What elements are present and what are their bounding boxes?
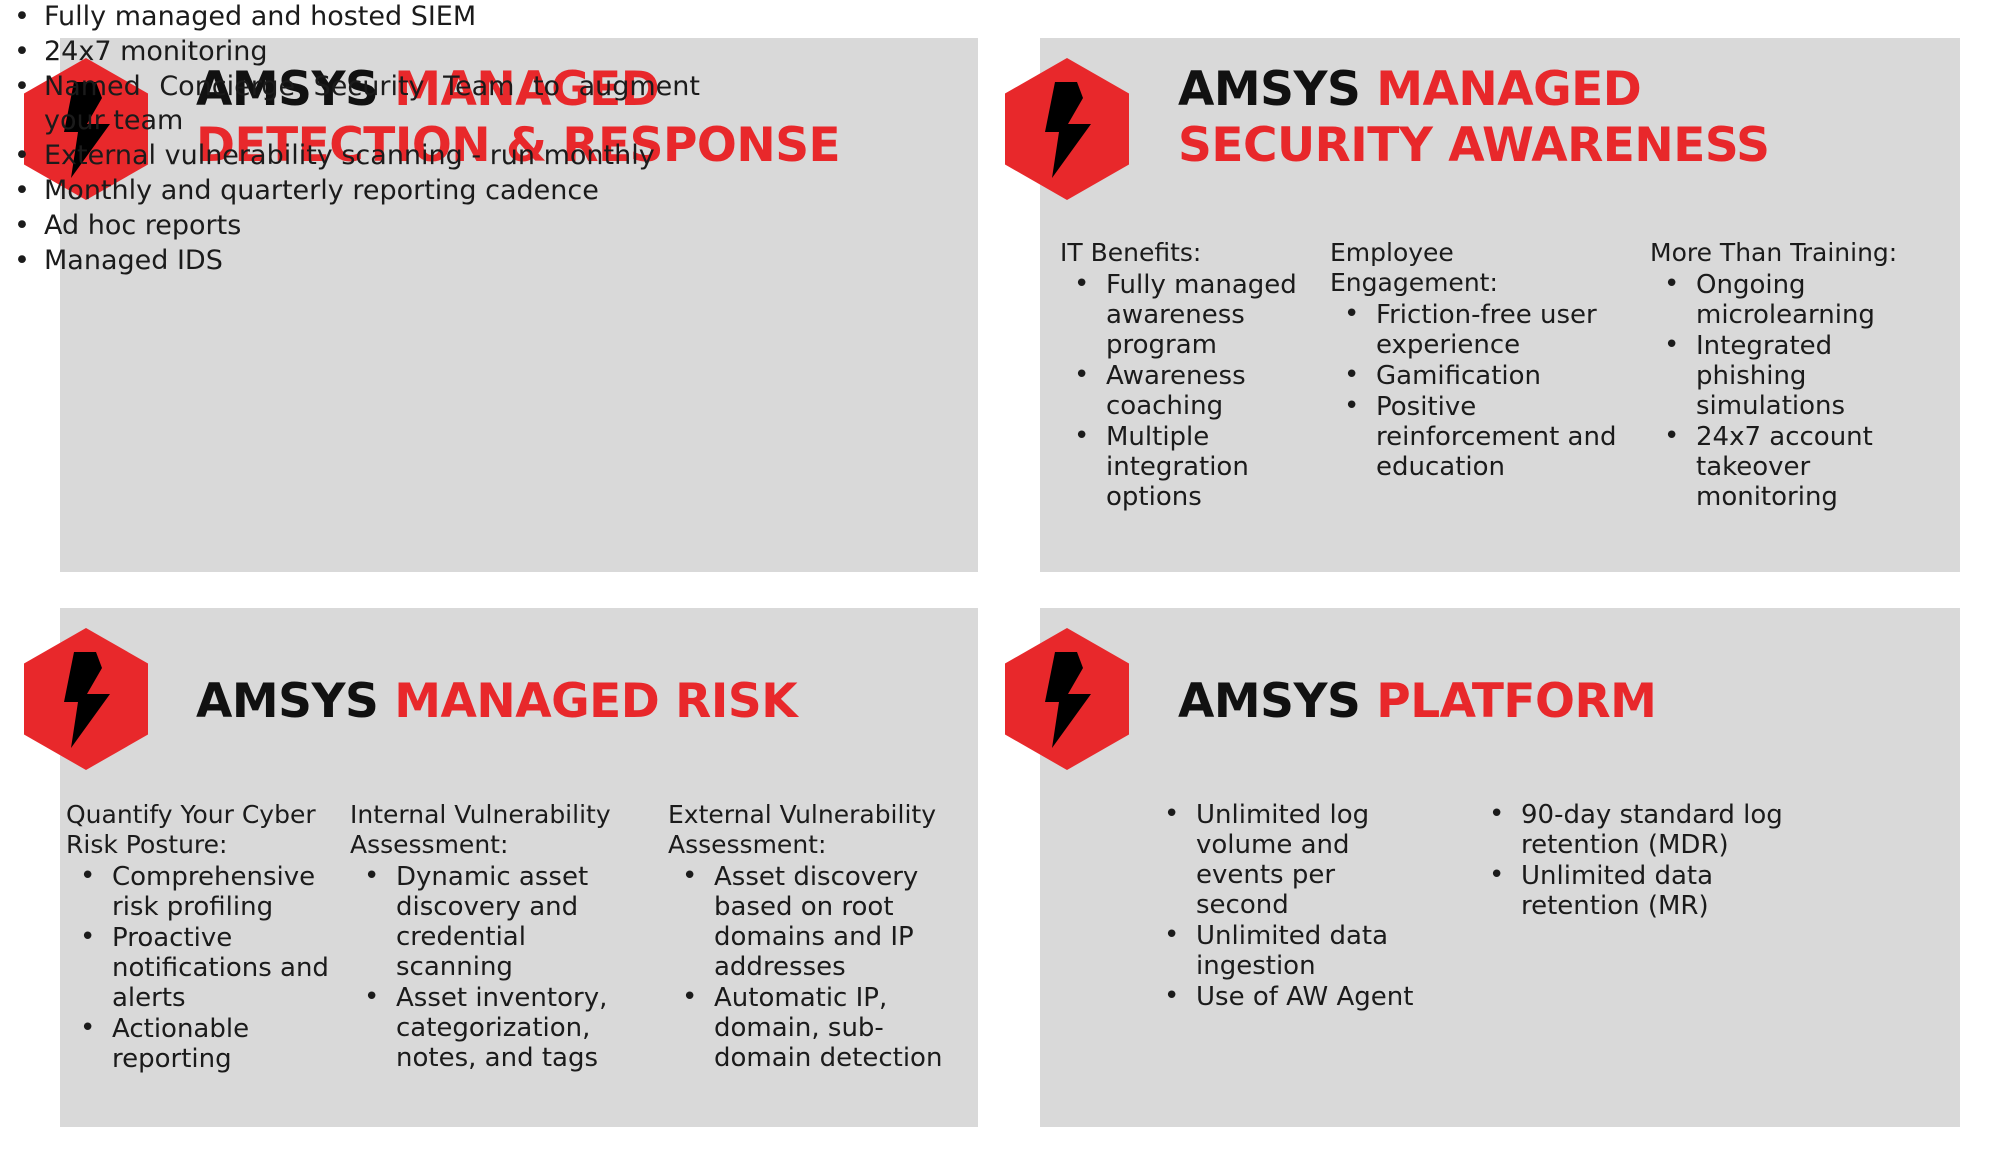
card-title-accent: MANAGED (1376, 62, 1641, 117)
lightning-bolt-icon (1005, 58, 1129, 200)
column-title: External Vulnerability Assessment: (668, 800, 958, 860)
list-item: Use of AW Agent (1150, 982, 1430, 1012)
list-item: 24x7 account takeover monitoring (1650, 422, 1930, 512)
list-item: External vulnerability scanning - run mo… (0, 139, 700, 173)
lightning-bolt-icon (24, 628, 148, 770)
column-title: Quantify Your Cyber Risk Posture: (66, 800, 331, 860)
card-title-platform: AMSYS PLATFORM (1178, 674, 1656, 730)
column-title: Internal Vulnerability Assessment: (350, 800, 640, 860)
mr-column-external-vulnerability: External Vulnerability Assessment: Asset… (668, 800, 958, 1074)
list-item: Automatic IP, domain, sub-domain detecti… (668, 983, 958, 1073)
column-bullet-list: Comprehensive risk profiling Proactive n… (66, 862, 331, 1074)
list-item: Unlimited data ingestion (1150, 921, 1430, 981)
card-title-msa: AMSYS MANAGED SECURITY AWARENESS (1178, 62, 1769, 174)
column-title: IT Benefits: (1060, 238, 1305, 268)
card-title-prefix: AMSYS (196, 674, 394, 729)
list-item: Multiple integration options (1060, 422, 1305, 512)
card-title-accent: MANAGED RISK (394, 674, 797, 729)
list-item: Ongoing microlearning (1650, 270, 1930, 330)
card-title-prefix: AMSYS (1178, 674, 1376, 729)
column-bullet-list: Friction-free user experience Gamificati… (1330, 300, 1620, 482)
amsys-logo-mr (24, 628, 148, 770)
card-title-line2: SECURITY AWARENESS (1178, 118, 1769, 174)
list-item: Awareness coaching (1060, 361, 1305, 421)
list-item: Actionable reporting (66, 1014, 331, 1074)
list-item: 24x7 monitoring (0, 35, 700, 69)
list-item: Asset discovery based on root domains an… (668, 862, 958, 982)
msa-column-more-than-training: More Than Training: Ongoing microlearnin… (1650, 238, 1930, 513)
column-bullet-list: Ongoing microlearning Integrated phishin… (1650, 270, 1930, 512)
platform-column-1: Unlimited log volume and events per seco… (1150, 800, 1430, 1013)
lightning-bolt-icon (1005, 628, 1129, 770)
card-title-prefix: AMSYS (1178, 62, 1376, 117)
msa-column-it-benefits: IT Benefits: Fully managed awareness pro… (1060, 238, 1305, 513)
amsys-logo-msa (1005, 58, 1129, 200)
list-item: Managed IDS (0, 244, 700, 278)
list-item: Comprehensive risk profiling (66, 862, 331, 922)
list-item: Friction-free user experience (1330, 300, 1620, 360)
list-item: Gamification (1330, 361, 1620, 391)
column-title: Employee Engagement: (1330, 238, 1620, 298)
mr-column-internal-vulnerability: Internal Vulnerability Assessment: Dynam… (350, 800, 640, 1074)
list-item: Proactive notifications and alerts (66, 923, 331, 1013)
column-title: More Than Training: (1650, 238, 1930, 268)
card-title-mr: AMSYS MANAGED RISK (196, 674, 797, 730)
msa-column-employee-engagement: Employee Engagement: Friction-free user … (1330, 238, 1620, 483)
card-title-accent: PLATFORM (1376, 674, 1656, 729)
column-bullet-list: Dynamic asset discovery and credential s… (350, 862, 640, 1073)
list-item: Fully managed and hosted SIEM (0, 0, 700, 34)
slide-canvas: AMSYS MANAGED DETECTION & RESPONSE Fully… (0, 0, 2000, 1176)
column-bullet-list: 90-day standard log retention (MDR) Unli… (1475, 800, 1795, 921)
mdr-bullet-list: Fully managed and hosted SIEM 24x7 monit… (0, 0, 700, 278)
list-item: 90-day standard log retention (MDR) (1475, 800, 1795, 860)
platform-column-2: 90-day standard log retention (MDR) Unli… (1475, 800, 1795, 922)
mr-column-quantify-risk: Quantify Your Cyber Risk Posture: Compre… (66, 800, 331, 1075)
list-item: Dynamic asset discovery and credential s… (350, 862, 640, 982)
list-item: Named Concierge Security Team to augment… (0, 70, 700, 138)
amsys-logo-platform (1005, 628, 1129, 770)
list-item: Monthly and quarterly reporting cadence (0, 174, 700, 208)
list-item: Unlimited data retention (MR) (1475, 861, 1795, 921)
list-item: Unlimited log volume and events per seco… (1150, 800, 1430, 920)
list-item: Asset inventory, categorization, notes, … (350, 983, 640, 1073)
column-bullet-list: Unlimited log volume and events per seco… (1150, 800, 1430, 1012)
list-item: Ad hoc reports (0, 209, 700, 243)
list-item: Integrated phishing simulations (1650, 331, 1930, 421)
column-bullet-list: Asset discovery based on root domains an… (668, 862, 958, 1073)
list-item: Positive reinforcement and education (1330, 392, 1620, 482)
list-item: Fully managed awareness program (1060, 270, 1305, 360)
column-bullet-list: Fully managed awareness program Awarenes… (1060, 270, 1305, 512)
